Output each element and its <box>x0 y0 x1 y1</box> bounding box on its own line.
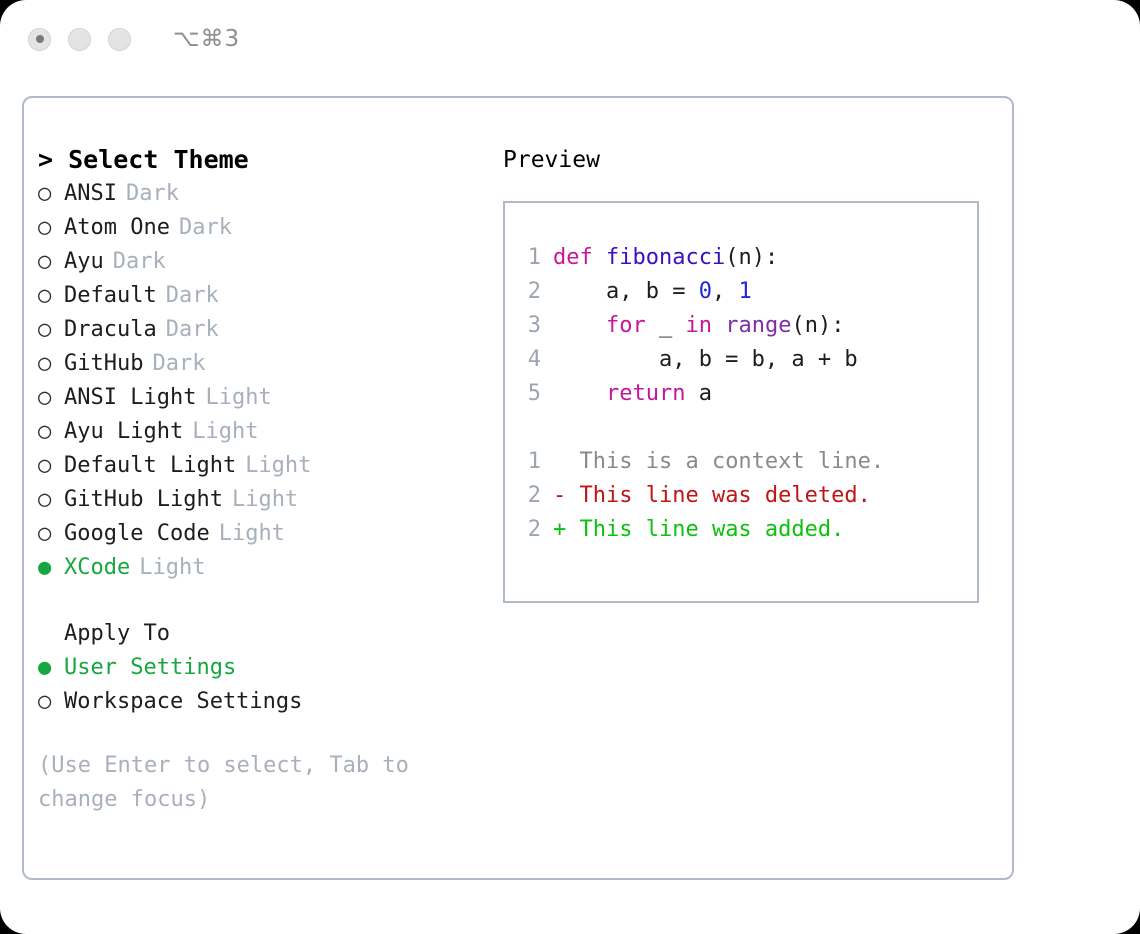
theme-kind-label: Dark <box>170 211 232 245</box>
diff-line: 1 This is a context line. <box>519 445 977 479</box>
theme-kind-label: Dark <box>104 245 166 279</box>
diff-marker: + <box>553 513 566 547</box>
theme-list-item[interactable]: ○Google CodeLight <box>38 517 499 551</box>
theme-list-item[interactable]: ○DefaultDark <box>38 279 499 313</box>
theme-name-label: Dracula <box>64 313 157 347</box>
theme-kind-label: Light <box>183 415 258 449</box>
code-line: 5 return a <box>519 377 977 411</box>
code-token-plain: (n): <box>791 313 844 338</box>
apply-to-item[interactable]: ●User Settings <box>38 651 499 685</box>
code-token-call: range <box>725 313 791 338</box>
zoom-button-icon[interactable] <box>108 28 131 51</box>
theme-name-label: ANSI Light <box>64 381 196 415</box>
code-line: 2 a, b = 0, 1 <box>519 275 977 309</box>
theme-name-label: XCode <box>64 551 130 585</box>
theme-selection-column: > Select Theme ○ANSIDark○Atom OneDark○Ay… <box>24 98 499 878</box>
code-token-fn: fibonacci <box>606 245 725 270</box>
code-token-plain: a <box>685 381 712 406</box>
theme-list-item[interactable]: ○DraculaDark <box>38 313 499 347</box>
code-line: 3 for _ in range(n): <box>519 309 977 343</box>
apply-to-label: User Settings <box>64 651 236 685</box>
theme-kind-label: Light <box>130 551 205 585</box>
theme-list-item[interactable]: ○GitHub LightLight <box>38 483 499 517</box>
theme-list: ○ANSIDark○Atom OneDark○AyuDark○DefaultDa… <box>38 177 499 585</box>
theme-name-label: GitHub Light <box>64 483 223 517</box>
theme-kind-label: Light <box>196 381 271 415</box>
code-token-plain: a, b = <box>553 279 699 304</box>
line-number: 2 <box>519 513 553 547</box>
line-number: 2 <box>519 275 553 309</box>
minimize-button-icon[interactable] <box>68 28 91 51</box>
theme-kind-label: Light <box>210 517 285 551</box>
apply-to-header: Apply To <box>38 617 499 651</box>
diff-marker: - <box>553 479 566 513</box>
theme-name-label: GitHub <box>64 347 143 381</box>
radio-unselected-icon: ○ <box>38 347 64 381</box>
radio-unselected-icon: ○ <box>38 449 64 483</box>
radio-unselected-icon: ○ <box>38 211 64 245</box>
theme-list-item[interactable]: ○Default LightLight <box>38 449 499 483</box>
code-token-num: 0 <box>699 279 712 304</box>
theme-kind-label: Light <box>236 449 311 483</box>
preview-title: Preview <box>503 143 1012 177</box>
code-token-kw: def <box>553 245 606 270</box>
theme-kind-label: Dark <box>143 347 205 381</box>
diff-marker <box>553 445 566 479</box>
code-line-text: a, b = 0, 1 <box>553 275 752 309</box>
radio-unselected-icon: ○ <box>38 517 64 551</box>
code-token-kw: in <box>685 313 712 338</box>
window-shortcut-label: ⌥⌘3 <box>173 26 240 52</box>
theme-kind-label: Dark <box>157 313 219 347</box>
theme-kind-label: Dark <box>117 177 179 211</box>
radio-unselected-icon: ○ <box>38 177 64 211</box>
main-panel: > Select Theme ○ANSIDark○Atom OneDark○Ay… <box>22 96 1014 880</box>
app-window: ⌥⌘3 > Select Theme ○ANSIDark○Atom OneDar… <box>0 0 1140 934</box>
preview-column: Preview 1def fibonacci(n):2 a, b = 0, 13… <box>499 98 1012 878</box>
theme-list-item[interactable]: ○Atom OneDark <box>38 211 499 245</box>
code-line-text: a, b = b, a + b <box>553 343 858 377</box>
diff-line-text: This line was deleted. <box>566 479 871 513</box>
line-number: 5 <box>519 377 553 411</box>
keyboard-hint-text: (Use Enter to select, Tab to change focu… <box>38 749 438 817</box>
preview-box: 1def fibonacci(n):2 a, b = 0, 13 for _ i… <box>503 201 979 603</box>
close-button-icon[interactable] <box>28 28 51 51</box>
spacer <box>519 411 977 445</box>
diff-line-text: This is a context line. <box>566 445 884 479</box>
radio-unselected-icon: ○ <box>38 381 64 415</box>
line-number: 3 <box>519 309 553 343</box>
spacer <box>38 585 499 617</box>
radio-unselected-icon: ○ <box>38 279 64 313</box>
theme-name-label: ANSI <box>64 177 117 211</box>
apply-to-item[interactable]: ○Workspace Settings <box>38 685 499 719</box>
code-line-text: for _ in range(n): <box>553 309 844 343</box>
code-token-kw: return <box>606 381 685 406</box>
theme-list-item[interactable]: ○Ayu LightLight <box>38 415 499 449</box>
apply-to-label: Workspace Settings <box>64 685 302 719</box>
radio-selected-icon: ● <box>38 651 64 685</box>
code-line: 4 a, b = b, a + b <box>519 343 977 377</box>
code-token-plain: , <box>712 279 739 304</box>
theme-name-label: Ayu <box>64 245 104 279</box>
code-token-plain <box>712 313 725 338</box>
traffic-light-group <box>28 28 131 51</box>
code-line-text: return a <box>553 377 712 411</box>
code-token-plain <box>553 381 606 406</box>
diff-sample: 1 This is a context line.2- This line wa… <box>519 445 977 547</box>
line-number: 2 <box>519 479 553 513</box>
code-sample: 1def fibonacci(n):2 a, b = 0, 13 for _ i… <box>519 241 977 411</box>
line-number: 4 <box>519 343 553 377</box>
radio-unselected-icon: ○ <box>38 245 64 279</box>
code-token-plain: (n): <box>725 245 778 270</box>
theme-list-item[interactable]: ○ANSIDark <box>38 177 499 211</box>
radio-unselected-icon: ○ <box>38 313 64 347</box>
code-token-plain <box>553 313 606 338</box>
title-bar: ⌥⌘3 <box>0 0 1140 78</box>
theme-name-label: Ayu Light <box>64 415 183 449</box>
code-line: 1def fibonacci(n): <box>519 241 977 275</box>
theme-list-item[interactable]: ●XCodeLight <box>38 551 499 585</box>
code-line-text: def fibonacci(n): <box>553 241 778 275</box>
theme-list-item[interactable]: ○ANSI LightLight <box>38 381 499 415</box>
diff-line-text: This line was added. <box>566 513 844 547</box>
radio-selected-icon: ● <box>38 551 64 585</box>
apply-to-list: ●User Settings○Workspace Settings <box>38 651 499 719</box>
theme-kind-label: Dark <box>157 279 219 313</box>
code-token-plain: _ <box>646 313 686 338</box>
theme-name-label: Default <box>64 279 157 313</box>
radio-unselected-icon: ○ <box>38 685 64 719</box>
theme-list-item[interactable]: ○AyuDark <box>38 245 499 279</box>
code-token-plain: a, b = b, a + b <box>553 347 858 372</box>
line-number: 1 <box>519 241 553 275</box>
code-token-num: 1 <box>738 279 751 304</box>
theme-name-label: Atom One <box>64 211 170 245</box>
theme-list-item[interactable]: ○GitHubDark <box>38 347 499 381</box>
diff-line: 2- This line was deleted. <box>519 479 977 513</box>
theme-kind-label: Light <box>223 483 298 517</box>
theme-name-label: Default Light <box>64 449 236 483</box>
diff-line: 2+ This line was added. <box>519 513 977 547</box>
theme-name-label: Google Code <box>64 517 210 551</box>
radio-unselected-icon: ○ <box>38 415 64 449</box>
line-number: 1 <box>519 445 553 479</box>
radio-unselected-icon: ○ <box>38 483 64 517</box>
code-token-kw: for <box>606 313 646 338</box>
select-theme-header: > Select Theme <box>38 143 499 177</box>
